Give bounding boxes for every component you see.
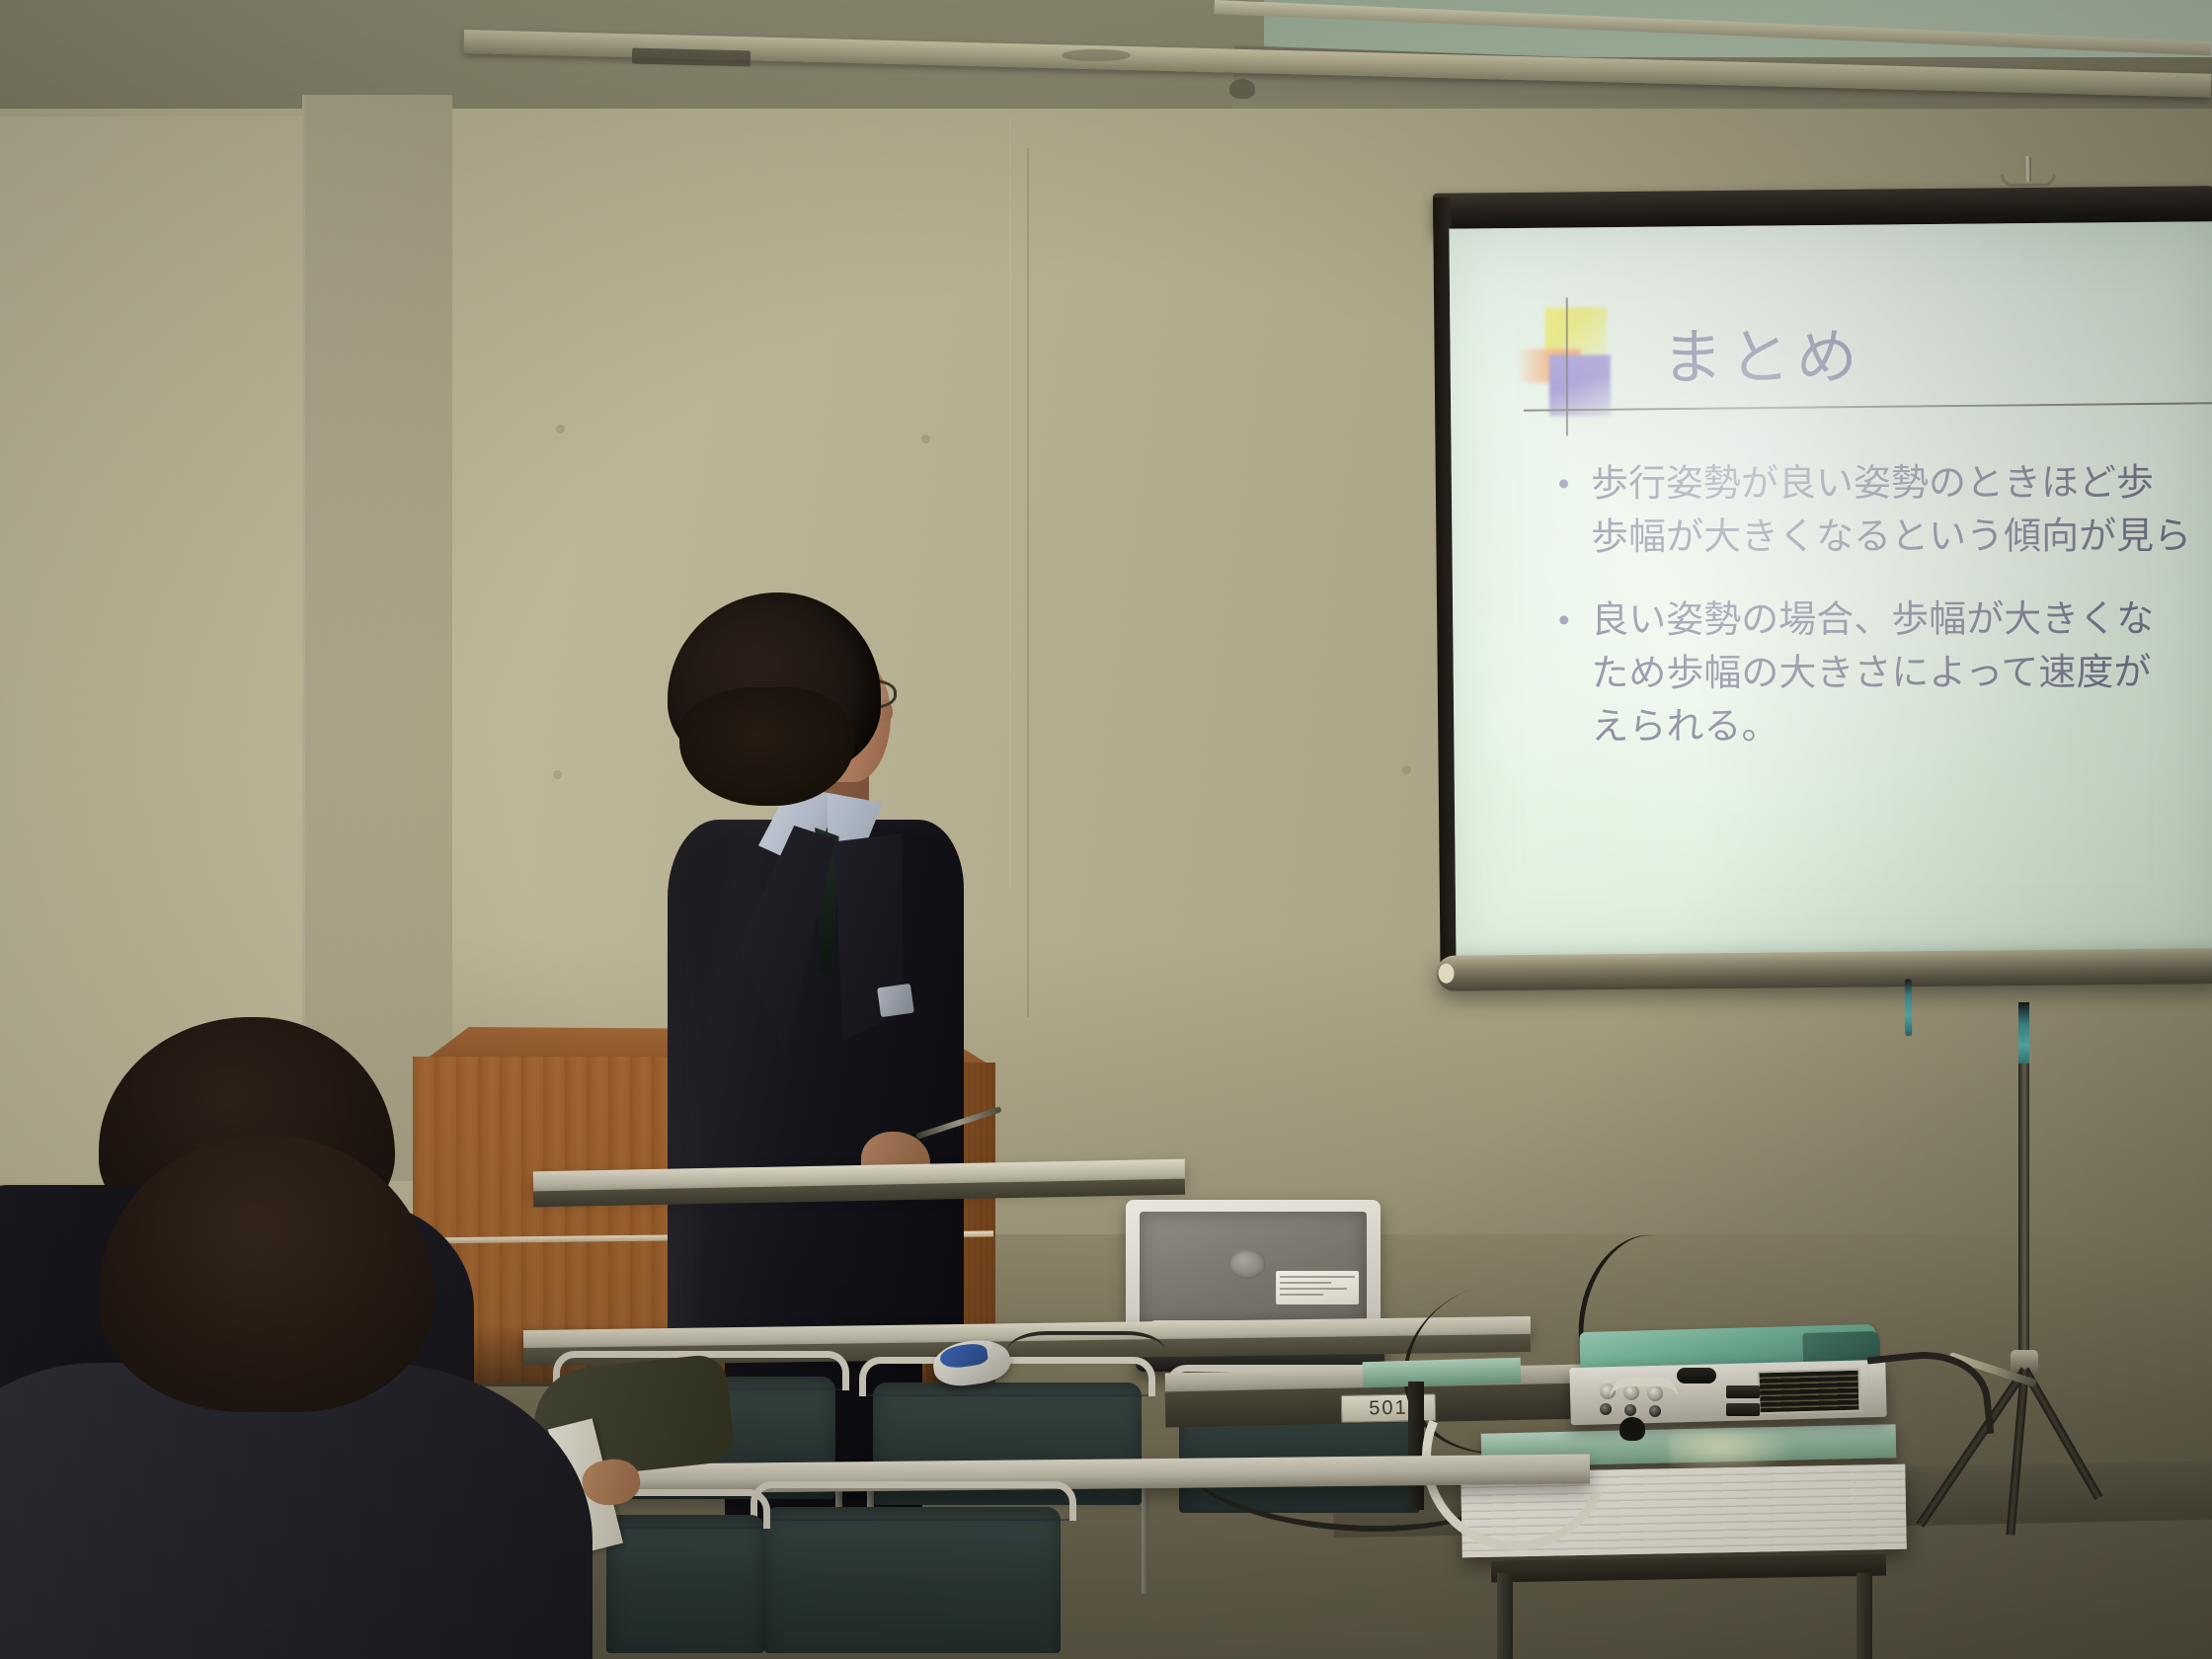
bullet-dot-icon	[1559, 615, 1568, 624]
projector-power-cable	[1610, 1378, 1679, 1423]
ceiling-smoke-detector	[1229, 79, 1255, 99]
cart-lower-shelf	[1491, 1554, 1886, 1583]
projector-exhaust-vent	[1757, 1369, 1860, 1415]
screen-pull-handle[interactable]	[1905, 979, 1913, 1036]
cart-leg	[1856, 1573, 1872, 1659]
tripod-stand[interactable]	[1965, 1002, 2212, 1536]
bullet-line: えられる。	[1591, 699, 2212, 753]
projection-screen[interactable]: まとめ 歩行姿勢が良い姿勢のときほど歩 歩幅が大きくなるという傾向が見ら	[1433, 186, 2212, 1013]
chair-leg	[1142, 1475, 1148, 1594]
bullet-line: 歩幅が大きくなるという傾向が見ら	[1591, 510, 2212, 564]
chair-chrome-frame	[750, 1481, 1076, 1521]
screen-wall-hook-icon	[2001, 154, 2056, 189]
bullet-line: ため歩幅の大きさによって速度が	[1591, 646, 2212, 700]
bullet-line: 良い姿勢の場合、歩幅が大きくな	[1591, 592, 2212, 647]
vga-port-icon[interactable]	[1726, 1385, 1760, 1398]
presenter-figure	[632, 592, 987, 1343]
chair[interactable]	[592, 1489, 770, 1647]
laptop-asset-label	[1276, 1271, 1359, 1304]
slide-bullet: 良い姿勢の場合、歩幅が大きくな ため歩幅の大きさによって速度が えられる。	[1559, 592, 2212, 753]
wall-fixing-dot	[921, 434, 930, 443]
projector-handle-recess	[1677, 1368, 1716, 1383]
screen-roller-end-cap	[1439, 964, 1455, 984]
wall-panel-seam-highlight	[1009, 118, 1011, 889]
screen-bottom-roller-bar[interactable]	[1436, 948, 2212, 991]
cart-leg	[1497, 1573, 1513, 1659]
laptop-lid	[1126, 1200, 1381, 1338]
ceiling-vent	[1062, 49, 1131, 61]
tripod-pole-tip	[2018, 1002, 2029, 1064]
tripod-leg	[2021, 1368, 2103, 1500]
vga-port-icon[interactable]	[1726, 1403, 1760, 1416]
chair[interactable]	[750, 1481, 1076, 1649]
slide-body: 歩行姿勢が良い姿勢のときほど歩 歩幅が大きくなるという傾向が見ら 良い姿勢の場合…	[1559, 456, 2212, 783]
wall-fixing-dot	[1402, 765, 1411, 774]
bullet-line: 歩行姿勢が良い姿勢のときほど歩	[1591, 456, 2212, 511]
presenter-name-badge	[877, 984, 914, 1017]
chair-back-cushion	[606, 1515, 764, 1653]
projected-slide: まとめ 歩行姿勢が良い姿勢のときほど歩 歩幅が大きくなるという傾向が見ら	[1465, 257, 2212, 996]
audience-hair	[99, 1136, 434, 1412]
ceiling-rail-bracket	[632, 48, 750, 67]
laptop-computer[interactable]	[1126, 1200, 1412, 1387]
bullet-dot-icon	[1559, 479, 1568, 488]
mouse-cable	[1007, 1331, 1165, 1371]
slide-title: まとめ	[1662, 307, 1863, 396]
presenter-hair-lower	[679, 687, 855, 806]
projector-lamp-reflection	[1669, 1430, 1797, 1475]
wall-fixing-dot	[553, 770, 562, 779]
dell-logo-icon	[1228, 1249, 1266, 1279]
wall-fixing-dot	[556, 425, 565, 434]
screen-surface: まとめ 歩行姿勢が良い姿勢のときほど歩 歩幅が大きくなるという傾向が見ら	[1449, 221, 2212, 961]
slide-bullet: 歩行姿勢が良い姿勢のときほど歩 歩幅が大きくなるという傾向が見ら	[1559, 456, 2212, 564]
audience-member-foreground	[0, 1136, 573, 1659]
presentation-photo-scene: まとめ 歩行姿勢が良い姿勢のときほど歩 歩幅が大きくなるという傾向が見ら	[0, 0, 2212, 1659]
wall-panel-seam	[1027, 148, 1029, 1017]
chair-back-cushion	[764, 1507, 1061, 1653]
